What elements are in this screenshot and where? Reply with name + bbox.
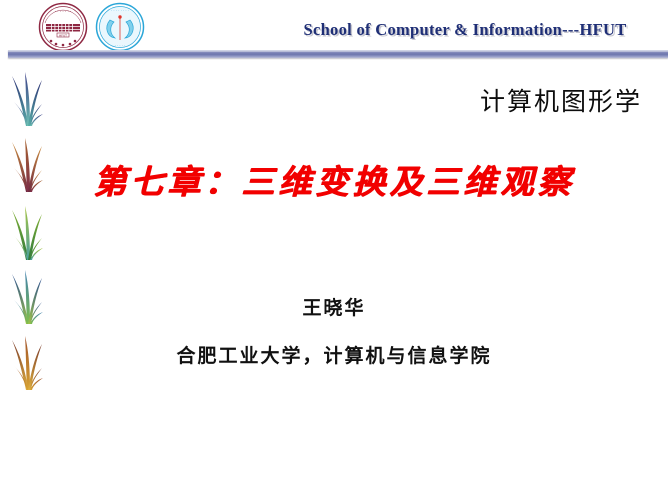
course-title: 计算机图形学 [0,82,642,118]
presenter-name: 王晓华 [0,293,668,320]
presentation-slide: · · · · · · · HFUT [0,0,668,500]
svg-text:· · · · · · ·: · · · · · · · [55,9,72,14]
chapter-title: 第七章：三维变换及三维观察 [0,155,668,203]
school-emblem-logo-icon: · · · · · · · · · · · · · [95,2,145,52]
svg-text:HFUT: HFUT [59,34,67,38]
header-divider-rule [8,50,668,58]
svg-text:· · · · ·: · · · · · [115,44,125,48]
header-logo-group: · · · · · · · HFUT [38,2,168,52]
grass-tuft-green-icon [4,202,50,264]
hfut-seal-logo-icon: · · · · · · · HFUT [38,2,88,52]
header-title: School of Computer & Information---HFUT [290,20,640,40]
svg-text:· · · · · · · ·: · · · · · · · · [111,9,129,13]
affiliation-text: 合肥工业大学，计算机与信息学院 [0,341,668,368]
